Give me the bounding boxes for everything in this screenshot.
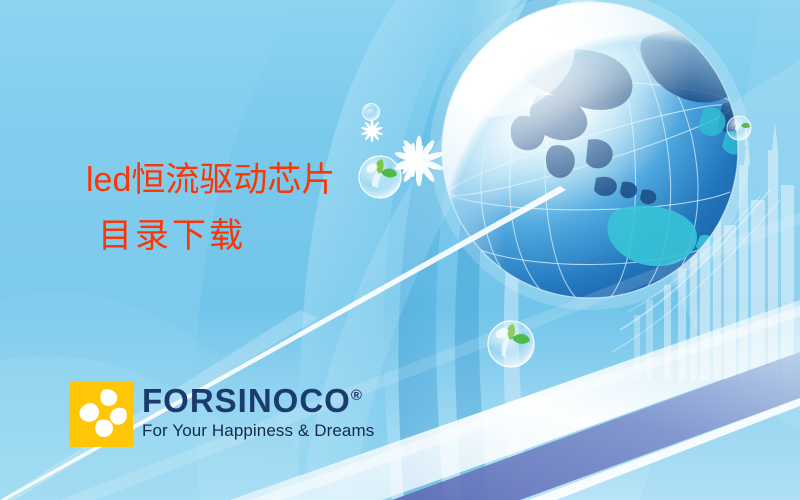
registered-trademark-symbol: ® [351, 387, 362, 404]
brand-wordmark-text: FORSINOCO [142, 382, 351, 419]
page-title: led恒流驱动芯片 目录下载 [86, 163, 335, 253]
page-title-line-1: led恒流驱动芯片 [86, 163, 335, 197]
pinwheel-icon [69, 381, 133, 447]
forsinoco-pinwheel-mark [69, 381, 133, 447]
brand-tagline: For Your Happiness & Dreams [142, 421, 374, 441]
logo-text-block: FORSINOCO® For Your Happiness & Dreams [142, 381, 374, 441]
brand-wordmark: FORSINOCO® [142, 384, 362, 417]
brand-logo: FORSINOCO® For Your Happiness & Dreams [69, 381, 374, 447]
banner-root: led恒流驱动芯片 目录下载 FORSINOCO® [0, 0, 800, 500]
page-title-line-2: 目录下载 [98, 219, 335, 253]
